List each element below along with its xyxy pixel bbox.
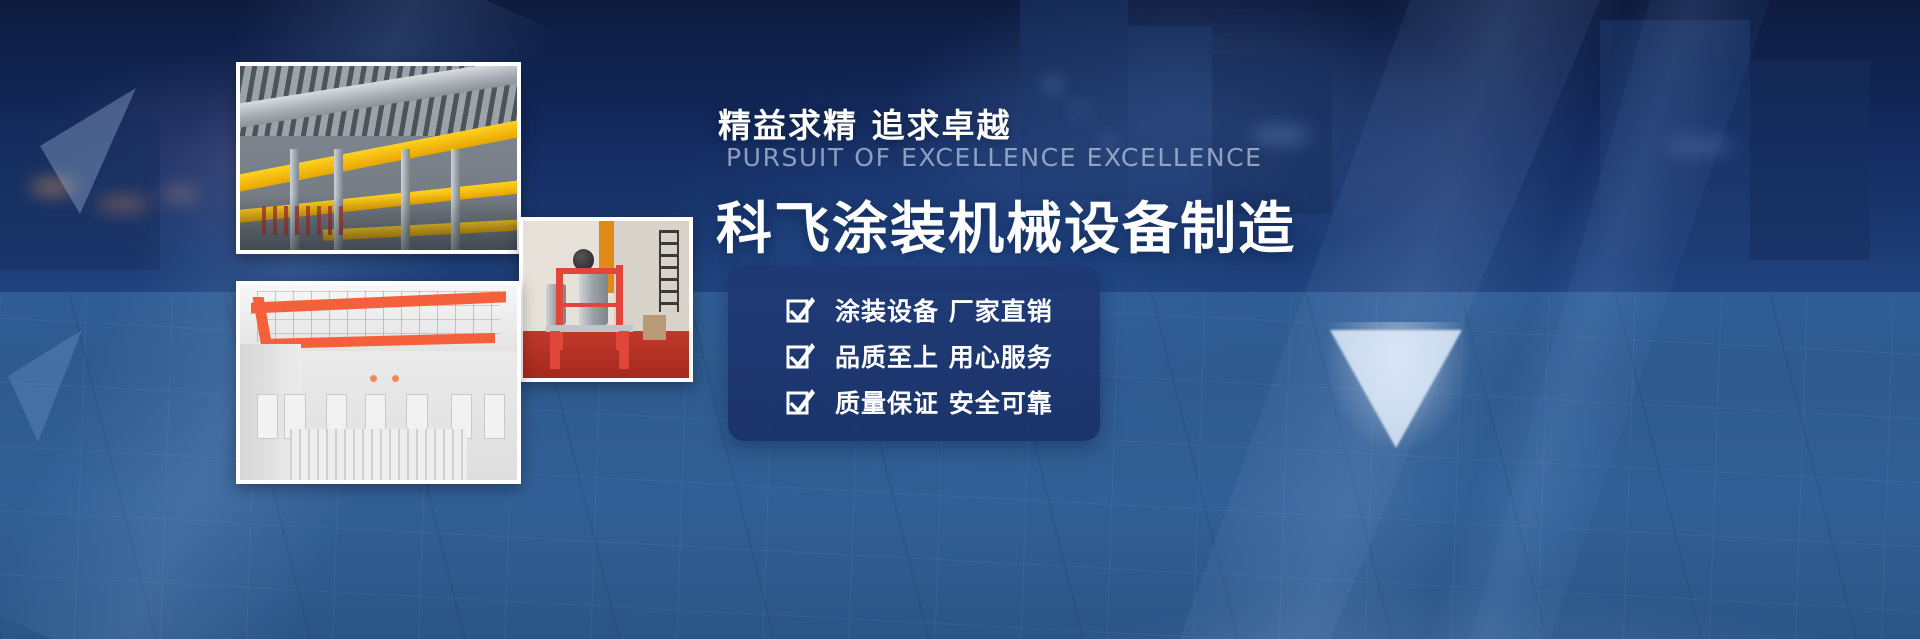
photo-equipment[interactable] — [519, 217, 693, 382]
feature-item: 涂装设备 厂家直销 — [786, 292, 1053, 328]
photo-conveyor[interactable] — [236, 62, 521, 254]
feature-item: 品质至上 用心服务 — [786, 338, 1053, 374]
feature-item: 质量保证 安全可靠 — [786, 384, 1053, 420]
photo-booth[interactable] — [236, 281, 521, 484]
spotlight-triangle — [1330, 330, 1462, 448]
hero-banner: 精益求精 追求卓越 PURSUIT OF EXCELLENCE EXCELLEN… — [0, 0, 1920, 639]
banner-tagline: 精益求精 追求卓越 — [718, 99, 1012, 147]
feature-label: 质量保证 安全可靠 — [835, 384, 1053, 420]
checkbox-checked-icon — [786, 295, 816, 325]
checkbox-checked-icon — [786, 341, 816, 371]
decor-triangle — [40, 88, 180, 218]
banner-headline: 科飞涂装机械设备制造 — [716, 184, 1296, 265]
banner-subtitle: PURSUIT OF EXCELLENCE EXCELLENCE — [726, 143, 1263, 172]
feature-list-box: 涂装设备 厂家直销 品质至上 用心服务 质量保证 安全可靠 — [728, 266, 1100, 441]
decor-triangle — [8, 330, 128, 450]
feature-label: 品质至上 用心服务 — [835, 338, 1053, 374]
feature-label: 涂装设备 厂家直销 — [835, 292, 1053, 328]
decor-polygon — [1470, 0, 1770, 639]
checkbox-checked-icon — [786, 387, 816, 417]
